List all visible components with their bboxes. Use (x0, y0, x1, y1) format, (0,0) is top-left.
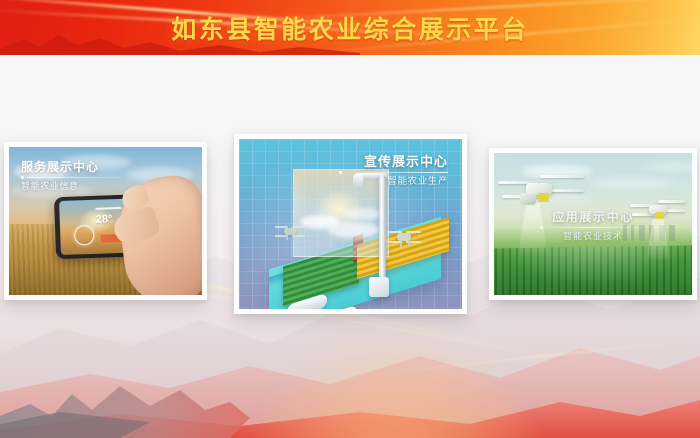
card-caption: 宣传展示中心 智能农业生产 (344, 155, 448, 187)
drone-rotor (275, 226, 288, 228)
card-inner: 28° 服务展示中心 智能农业信息 (9, 147, 202, 295)
drone-rotor (658, 200, 686, 203)
cloud-icon (590, 177, 674, 189)
cloud-icon (344, 208, 382, 220)
card-service-display-center[interactable]: 28° 服务展示中心 智能农业信息 (4, 142, 207, 300)
drone-leg (408, 241, 410, 247)
drone-marker (655, 212, 664, 219)
card-promotion-display-center[interactable]: 宣传展示中心 智能农业生产 (234, 134, 467, 314)
drone-rotor (540, 175, 584, 178)
light-pole (379, 175, 386, 281)
caption-divider (27, 177, 123, 178)
app-page: 如东县智能农业综合展示平台 28° (0, 0, 700, 438)
control-box (369, 277, 389, 297)
card-title: 服务展示中心 (21, 161, 123, 173)
card-inner: 应用展示中心 智能农业技术 (494, 153, 692, 295)
card-subtitle: 智能农业信息 (21, 182, 123, 191)
caption-divider (344, 172, 448, 173)
spray-tank (520, 193, 536, 205)
drone-leg (293, 235, 295, 240)
page-title: 如东县智能农业综合展示平台 (0, 10, 700, 46)
drone-leg (286, 235, 288, 240)
card-title: 宣传展示中心 (344, 155, 448, 168)
card-subtitle: 智能农业技术 (545, 232, 641, 241)
sunrise-glow (230, 328, 560, 438)
drone-rotor (292, 226, 305, 228)
card-inner: 宣传展示中心 智能农业生产 (239, 139, 462, 309)
card-caption: 服务展示中心 智能农业信息 (21, 161, 123, 191)
drone-icon (498, 171, 584, 211)
card-caption: 应用展示中心 智能农业技术 (545, 211, 641, 241)
card-subtitle: 智能农业生产 (344, 177, 448, 187)
caption-divider (545, 227, 641, 228)
drone-body (397, 233, 411, 241)
drone-body (284, 228, 296, 235)
drone-rotor (387, 231, 402, 233)
drone-rotor (406, 231, 421, 233)
drone-icon (387, 227, 421, 245)
drone-leg (400, 241, 402, 247)
temperature-readout: 28° (96, 213, 113, 226)
header-banner: 如东县智能农业综合展示平台 (0, 0, 700, 55)
drone-icon (275, 223, 305, 239)
card-title: 应用展示中心 (545, 211, 641, 223)
drone-marker (538, 193, 549, 202)
cloud-icon (328, 222, 380, 238)
card-application-display-center[interactable]: 应用展示中心 智能农业技术 (489, 148, 697, 300)
hud-ring-icon (74, 225, 95, 246)
